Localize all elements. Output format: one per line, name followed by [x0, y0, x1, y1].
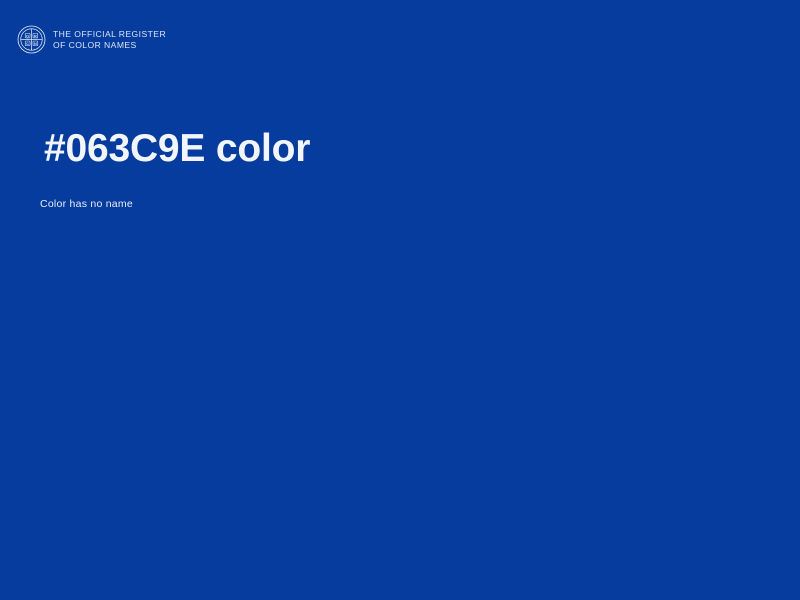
color-name-status: Color has no name: [40, 198, 133, 212]
color-heading-block: #063C9E color: [44, 128, 744, 171]
svg-text:C: C: [26, 42, 29, 46]
color-page: O R C N THE OFFICIAL REGISTER OF COLOR N…: [0, 0, 800, 600]
page-title: #063C9E color: [44, 128, 744, 171]
svg-text:R: R: [34, 34, 37, 38]
svg-text:N: N: [34, 42, 37, 46]
brand-wordmark-line-2: OF COLOR NAMES: [53, 40, 166, 50]
register-seal-icon: O R C N: [17, 25, 46, 54]
brand-wordmark-line-1: THE OFFICIAL REGISTER: [53, 29, 166, 39]
brand-wordmark: THE OFFICIAL REGISTER OF COLOR NAMES: [53, 29, 166, 49]
site-brand[interactable]: O R C N THE OFFICIAL REGISTER OF COLOR N…: [17, 25, 166, 54]
svg-text:O: O: [26, 34, 29, 38]
